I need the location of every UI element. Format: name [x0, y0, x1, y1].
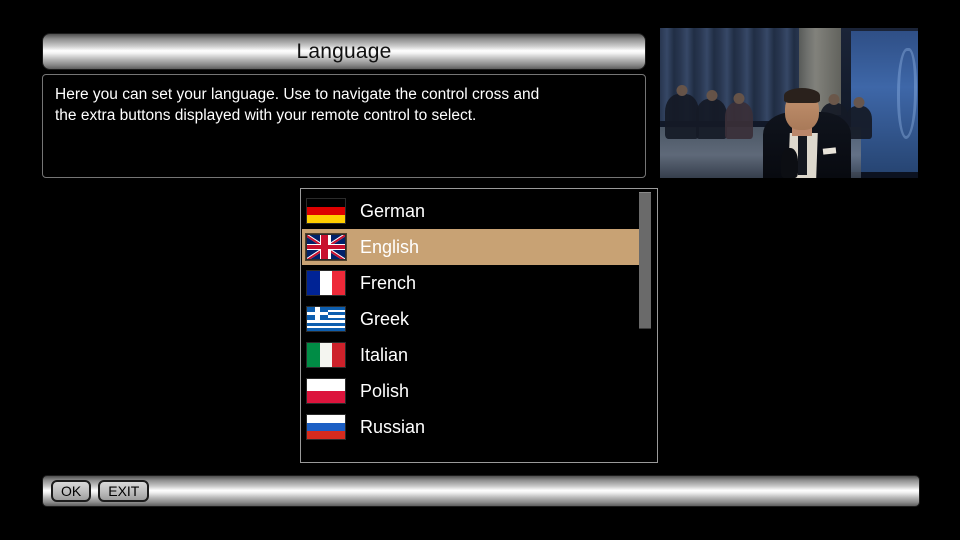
- list-item[interactable]: Italian: [302, 337, 642, 373]
- video-presenter-tie: [798, 136, 807, 175]
- video-presenter-pocket-square: [822, 147, 835, 154]
- exit-button-label: EXIT: [108, 483, 139, 499]
- softkey-bar: OK EXIT: [42, 475, 920, 507]
- list-item[interactable]: English: [302, 229, 642, 265]
- description-text: Here you can set your language. Use to n…: [55, 85, 633, 127]
- flag-united-kingdom-icon: [306, 234, 346, 260]
- video-crowd-figure: [665, 94, 699, 139]
- ok-button-label: OK: [61, 483, 81, 499]
- list-item[interactable]: Greek: [302, 301, 642, 337]
- list-item-label: Polish: [360, 381, 409, 402]
- list-scrollbar[interactable]: [639, 192, 651, 460]
- list-item-label: English: [360, 237, 419, 258]
- list-item[interactable]: French: [302, 265, 642, 301]
- flag-russia-icon: [306, 414, 346, 440]
- flag-greece-icon: [306, 306, 346, 332]
- list-item-label: Greek: [360, 309, 409, 330]
- window-title-bar: Language: [42, 33, 646, 70]
- video-presenter-microphone: [781, 148, 798, 178]
- video-preview[interactable]: NEWS 2: [660, 28, 918, 178]
- ok-button[interactable]: OK: [51, 480, 91, 502]
- list-item[interactable]: Russian: [302, 409, 642, 445]
- flag-italy-icon: [306, 342, 346, 368]
- video-banner-art: [897, 48, 917, 139]
- page-title: Language: [296, 40, 391, 64]
- list-item-label: French: [360, 273, 416, 294]
- list-item[interactable]: Polish: [302, 373, 642, 409]
- flag-poland-icon: [306, 378, 346, 404]
- video-crowd-figure: [725, 102, 753, 140]
- list-item-label: German: [360, 201, 425, 222]
- flag-germany-icon: [306, 198, 346, 224]
- flag-france-icon: [306, 270, 346, 296]
- list-item-label: Italian: [360, 345, 408, 366]
- language-list-panel: German English: [300, 188, 658, 463]
- list-item-label: Russian: [360, 417, 425, 438]
- list-item[interactable]: German: [302, 193, 642, 229]
- video-presenter-hair: [784, 88, 820, 103]
- list-scrollbar-thumb[interactable]: [639, 192, 651, 329]
- tv-settings-screen: Language Here you can set your language.…: [0, 0, 960, 540]
- video-crowd-figure: [696, 99, 727, 140]
- language-list: German English: [302, 193, 642, 445]
- description-panel: Here you can set your language. Use to n…: [42, 74, 646, 178]
- exit-button[interactable]: EXIT: [98, 480, 149, 502]
